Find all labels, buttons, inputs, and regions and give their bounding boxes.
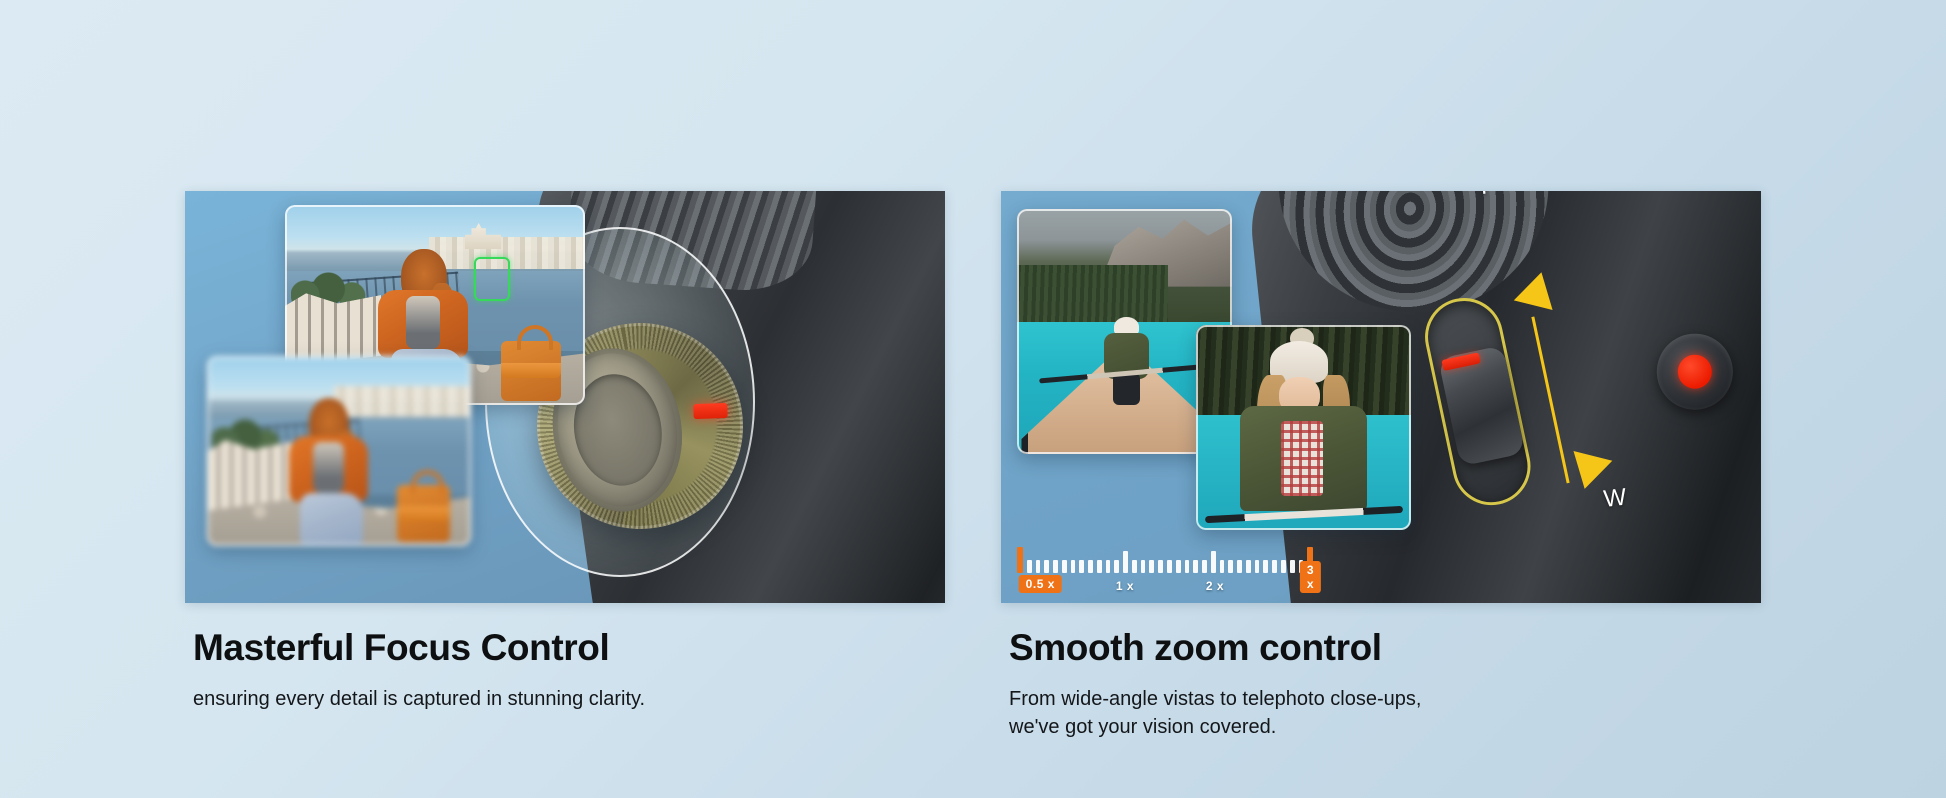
ruler-tick: [1017, 547, 1023, 573]
ruler-tick: [1255, 560, 1260, 573]
ruler-tick: [1228, 560, 1233, 573]
ruler-tick: [1071, 560, 1076, 573]
ruler-tick: [1044, 560, 1049, 573]
ruler-tick: [1106, 560, 1111, 573]
dial-position-marker-icon: [693, 403, 728, 419]
ruler-tick: [1132, 560, 1137, 573]
ruler-tick: [1141, 560, 1146, 573]
ruler-tick: [1027, 560, 1032, 573]
wide-label: W: [1602, 484, 1628, 514]
ruler-tick: [1079, 560, 1084, 573]
page-title-zoom: Smooth zoom control: [1009, 629, 1761, 668]
af-focus-bracket-icon: [474, 257, 510, 301]
ruler-tick: [1062, 560, 1067, 573]
ruler-tick: [1263, 560, 1268, 573]
zoom-direction-line: [1531, 317, 1569, 484]
ruler-tick: [1158, 560, 1163, 573]
photo-canoe-tele: [1196, 325, 1411, 530]
ruler-tick: [1097, 560, 1102, 573]
caption-line-1: From wide-angle vistas to telephoto clos…: [1009, 688, 1421, 710]
ruler-tick: [1211, 551, 1216, 573]
arrow-up-icon: [1514, 267, 1561, 310]
ruler-tick: [1185, 560, 1190, 573]
caption-line-2: we've got your vision covered.: [1009, 713, 1649, 741]
ruler-tick: [1246, 560, 1251, 573]
caption-line-1: ensuring every detail is captured in stu…: [193, 688, 645, 710]
ruler-tick: [1088, 560, 1093, 573]
feature-showcase: T: [0, 0, 1946, 798]
ruler-tick: [1202, 560, 1207, 573]
zoom-ruler[interactable]: 0.5 x1 x2 x3 x: [1017, 545, 1317, 593]
ruler-tick: [1220, 560, 1225, 573]
ruler-tick: [1149, 560, 1154, 573]
focus-dial-panel: T: [185, 191, 945, 603]
tele-label: T: [1475, 191, 1494, 201]
zoom-level-label[interactable]: 1 x: [1116, 579, 1134, 593]
ruler-tick: [1176, 560, 1181, 573]
zoom-rocker-panel: T W: [1001, 191, 1761, 603]
ruler-tick: [1036, 560, 1041, 573]
zoom-ruler-labels: 0.5 x1 x2 x3 x: [1017, 574, 1317, 593]
lens-rings-graphic: [1262, 191, 1566, 329]
arrow-down-icon: [1565, 451, 1612, 494]
ruler-tick: [1290, 560, 1295, 573]
ruler-tick: [1123, 551, 1128, 573]
zoom-level-label[interactable]: 0.5 x: [1019, 575, 1062, 593]
caption-body-focus: ensuring every detail is captured in stu…: [193, 685, 833, 713]
feature-column-focus: T: [185, 191, 945, 798]
caption-zoom: Smooth zoom control From wide-angle vist…: [1001, 603, 1761, 742]
zoom-rocker-control[interactable]: [1418, 291, 1538, 513]
zoom-level-label[interactable]: 3 x: [1300, 561, 1321, 593]
zoom-ruler-ticks: [1017, 545, 1317, 573]
ruler-tick: [1114, 560, 1119, 573]
ruler-tick: [1167, 560, 1172, 573]
ruler-tick: [1237, 560, 1242, 573]
caption-body-zoom: From wide-angle vistas to telephoto clos…: [1009, 685, 1649, 742]
caption-focus: Masterful Focus Control ensuring every d…: [185, 603, 945, 713]
ruler-tick: [1053, 560, 1058, 573]
feature-column-zoom: T W: [1001, 191, 1761, 798]
record-button[interactable]: [1653, 330, 1737, 414]
ruler-tick: [1193, 560, 1198, 573]
page-title-focus: Masterful Focus Control: [193, 629, 945, 668]
ruler-tick: [1272, 560, 1277, 573]
photo-budapest-blur: [207, 356, 471, 546]
ruler-tick: [1281, 560, 1286, 573]
record-dot-icon: [1676, 353, 1713, 390]
zoom-level-label[interactable]: 2 x: [1206, 579, 1224, 593]
